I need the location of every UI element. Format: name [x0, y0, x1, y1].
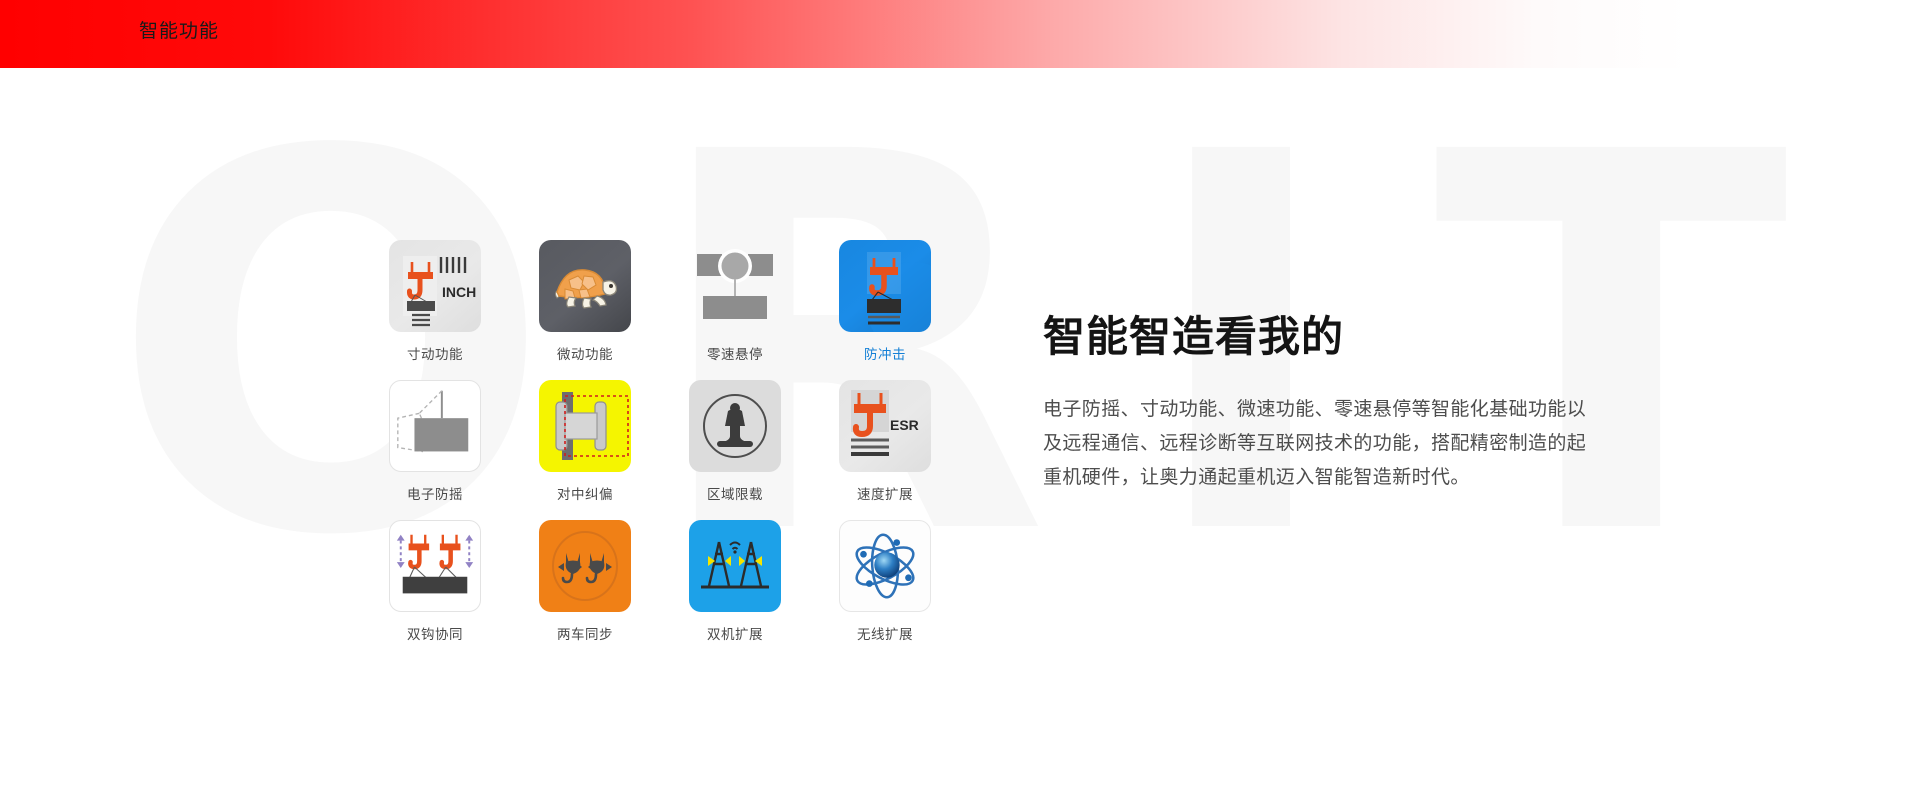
feature-icon-grid: INCH 寸动功能	[360, 240, 960, 660]
feature-item-speed-extension[interactable]: ESR 速度扩展	[810, 380, 960, 520]
feature-label: 区域限载	[707, 483, 763, 503]
smart-functions-page: ORIT 智能功能	[0, 0, 1920, 800]
feature-item-zero-speed-hover[interactable]: 零速悬停	[660, 240, 810, 380]
anti-impact-hook-icon	[839, 240, 931, 332]
atom-wireless-icon	[839, 520, 931, 612]
zero-speed-hover-icon	[689, 240, 781, 332]
feature-item-inching[interactable]: 微动功能	[510, 240, 660, 380]
feature-label: 寸动功能	[407, 343, 463, 363]
inch-hook-icon: INCH	[389, 240, 481, 332]
feature-item-dual-crane[interactable]: 双机扩展	[660, 520, 810, 660]
alignment-spool-icon	[539, 380, 631, 472]
copy-heading: 智能智造看我的	[1043, 308, 1603, 366]
feature-label: 对中纠偏	[557, 483, 613, 503]
feature-label: 双钩协同	[407, 623, 463, 643]
anti-sway-icon	[389, 380, 481, 472]
zone-load-limit-icon	[689, 380, 781, 472]
feature-label: 无线扩展	[857, 623, 913, 643]
feature-item-dual-hook[interactable]: 双钩协同	[360, 520, 510, 660]
svg-text:INCH: INCH	[442, 284, 476, 300]
dual-crane-wifi-icon	[689, 520, 781, 612]
two-trolley-sync-icon	[539, 520, 631, 612]
svg-text:ESR: ESR	[890, 417, 919, 433]
feature-label: 微动功能	[557, 343, 613, 363]
feature-item-wireless[interactable]: 无线扩展	[810, 520, 960, 660]
page-header-bar: 智能功能	[0, 0, 1920, 68]
feature-label: 速度扩展	[857, 483, 913, 503]
feature-item-zone-load-limit[interactable]: 区域限载	[660, 380, 810, 520]
feature-item-two-trolley-sync[interactable]: 两车同步	[510, 520, 660, 660]
feature-item-anti-sway[interactable]: 电子防摇	[360, 380, 510, 520]
feature-label: 零速悬停	[707, 343, 763, 363]
esr-hook-icon: ESR	[839, 380, 931, 472]
page-title: 智能功能	[139, 16, 219, 43]
feature-label: 两车同步	[557, 623, 613, 643]
background-watermark: ORIT	[0, 68, 1920, 800]
dual-hook-sync-icon	[389, 520, 481, 612]
copy-body: 电子防摇、寸动功能、微速功能、零速悬停等智能化基础功能以及远程通信、远程诊断等互…	[1043, 392, 1603, 494]
feature-item-alignment[interactable]: 对中纠偏	[510, 380, 660, 520]
turtle-icon	[539, 240, 631, 332]
feature-label: 双机扩展	[707, 623, 763, 643]
feature-item-anti-impact[interactable]: 防冲击	[810, 240, 960, 380]
feature-label: 防冲击	[864, 343, 906, 363]
feature-label: 电子防摇	[407, 483, 463, 503]
copy-block: 智能智造看我的 电子防摇、寸动功能、微速功能、零速悬停等智能化基础功能以及远程通…	[1043, 308, 1603, 494]
feature-item-inch[interactable]: INCH 寸动功能	[360, 240, 510, 380]
